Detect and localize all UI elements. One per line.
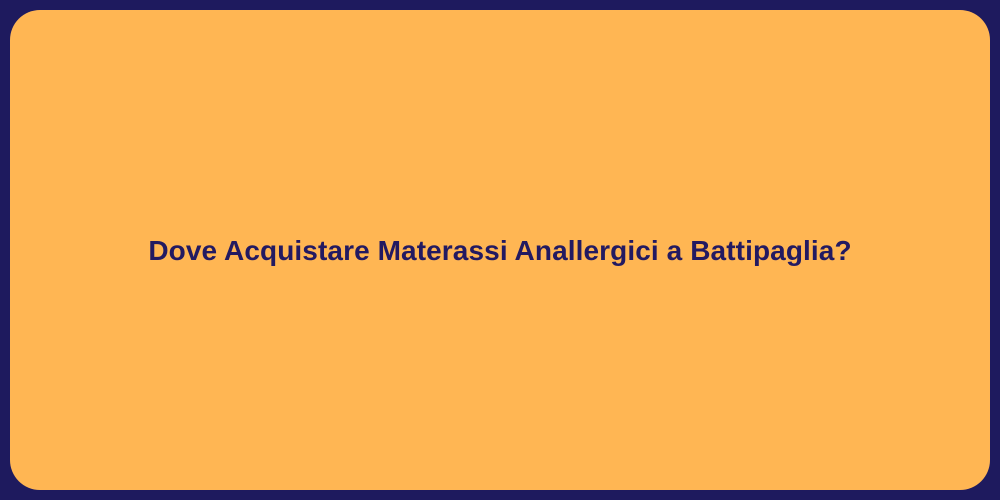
page-frame: Dove Acquistare Materassi Anallergici a …	[0, 0, 1000, 500]
page-title: Dove Acquistare Materassi Anallergici a …	[148, 233, 851, 268]
headline-card: Dove Acquistare Materassi Anallergici a …	[10, 10, 990, 490]
